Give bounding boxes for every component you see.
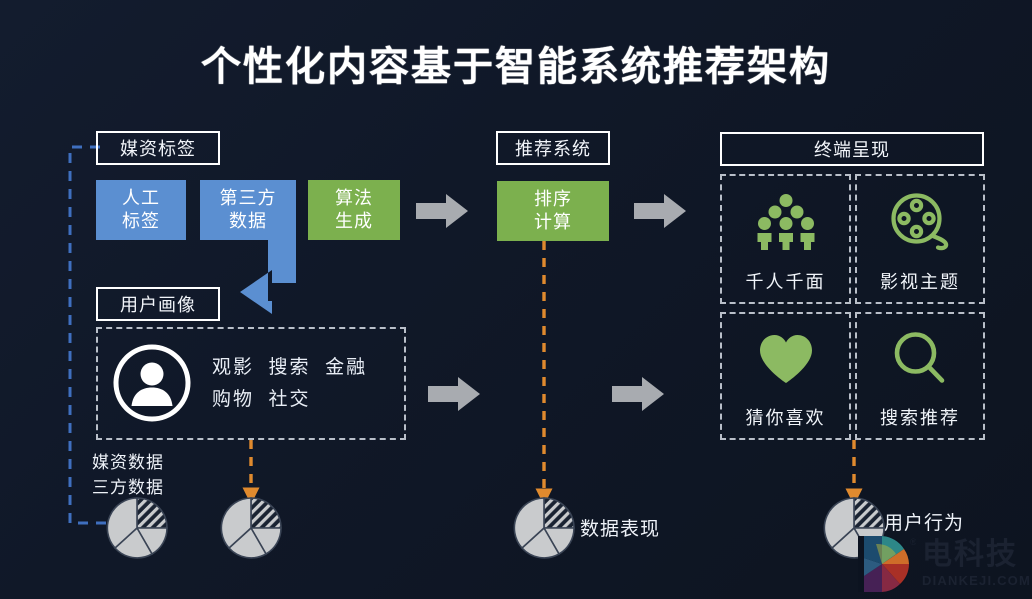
recommend-system-header: 推荐系统 (496, 131, 610, 165)
terminal-cell-label-guess-you-like: 猜你喜欢 (746, 404, 826, 430)
arrow-profile-to-recommend (428, 377, 480, 411)
pie-media-data (107, 498, 167, 558)
tile-third-party-data-line2: 数据 (229, 210, 267, 233)
magnifier-icon-wrap (857, 314, 983, 404)
user-profile-header: 用户画像 (96, 287, 220, 321)
watermark: ® 电科技 DIANKEJI.COM (852, 528, 1032, 599)
terminal-header: 终端呈现 (720, 132, 984, 166)
slide-canvas: 个性化内容基于智能系统推荐架构 (0, 0, 1032, 599)
film-reel-icon (889, 193, 951, 251)
heart-icon (757, 333, 815, 385)
tile-algorithm-generated-line2: 生成 (335, 210, 373, 233)
tile-ranking-compute-line1: 排序 (534, 188, 572, 211)
arrow-recommend-to-terminal (634, 194, 686, 228)
media-tags-header-label: 媒资标签 (120, 135, 196, 161)
film-reel-icon-wrap (857, 176, 983, 268)
terminal-cell-label-search-recommend: 搜索推荐 (880, 404, 960, 430)
watermark-text: 电科技 DIANKEJI.COM (922, 540, 1031, 588)
diankeji-logo-icon: ® (852, 532, 916, 596)
terminal-cell-film-theme[interactable]: 影视主题 (855, 174, 985, 304)
user-profile-tags-row2: 购物 社交 (212, 384, 367, 416)
tile-third-party-data[interactable]: 第三方 数据 (200, 180, 296, 240)
recommend-system-header-label: 推荐系统 (515, 135, 591, 161)
terminal-cell-search-recommend[interactable]: 搜索推荐 (855, 312, 985, 440)
tile-manual-tag[interactable]: 人工 标签 (96, 180, 186, 240)
media-data-label-line1: 媒资数据 (92, 451, 164, 476)
arrow-algorithm-to-profile (240, 240, 296, 314)
arrow-recommend-to-terminal-lower (612, 377, 664, 411)
media-data-label: 媒资数据 三方数据 (92, 451, 164, 500)
pie-data-performance (514, 498, 574, 558)
terminal-cell-guess-you-like[interactable]: 猜你喜欢 (720, 312, 851, 440)
user-profile-header-label: 用户画像 (120, 291, 196, 317)
tile-manual-tag-line1: 人工 (122, 187, 160, 210)
svg-text:®: ® (910, 537, 916, 547)
data-performance-label: 数据表现 (580, 516, 660, 544)
heart-icon-wrap (722, 314, 849, 404)
user-profile-tags: 观影 搜索 金融 购物 社交 (212, 352, 367, 417)
user-profile-tags-row1: 观影 搜索 金融 (212, 352, 367, 384)
tile-ranking-compute[interactable]: 排序 计算 (497, 181, 609, 241)
terminal-header-label: 终端呈现 (814, 136, 890, 162)
terminal-cell-thousand-faces[interactable]: 千人千面 (720, 174, 851, 304)
watermark-en: DIANKEJI.COM (922, 573, 1031, 588)
media-tags-header: 媒资标签 (96, 131, 220, 165)
media-data-label-line2: 三方数据 (92, 476, 164, 501)
people-group-icon-wrap (722, 176, 849, 268)
magnifier-icon (892, 331, 948, 387)
tile-algorithm-generated-line1: 算法 (335, 187, 373, 210)
watermark-cn: 电科技 (922, 540, 1031, 570)
tile-manual-tag-line2: 标签 (122, 210, 160, 233)
terminal-cell-label-thousand-faces: 千人千面 (746, 268, 826, 294)
user-avatar-icon (113, 344, 191, 422)
page-title: 个性化内容基于智能系统推荐架构 (0, 34, 1032, 92)
tile-third-party-data-line1: 第三方 (220, 187, 277, 210)
terminal-cell-label-film-theme: 影视主题 (880, 268, 960, 294)
tile-algorithm-generated[interactable]: 算法 生成 (308, 180, 400, 240)
tile-ranking-compute-line2: 计算 (534, 211, 572, 234)
arrow-media-to-recommend (416, 194, 468, 228)
pie-user-profile (221, 498, 281, 558)
people-group-icon (755, 194, 817, 250)
